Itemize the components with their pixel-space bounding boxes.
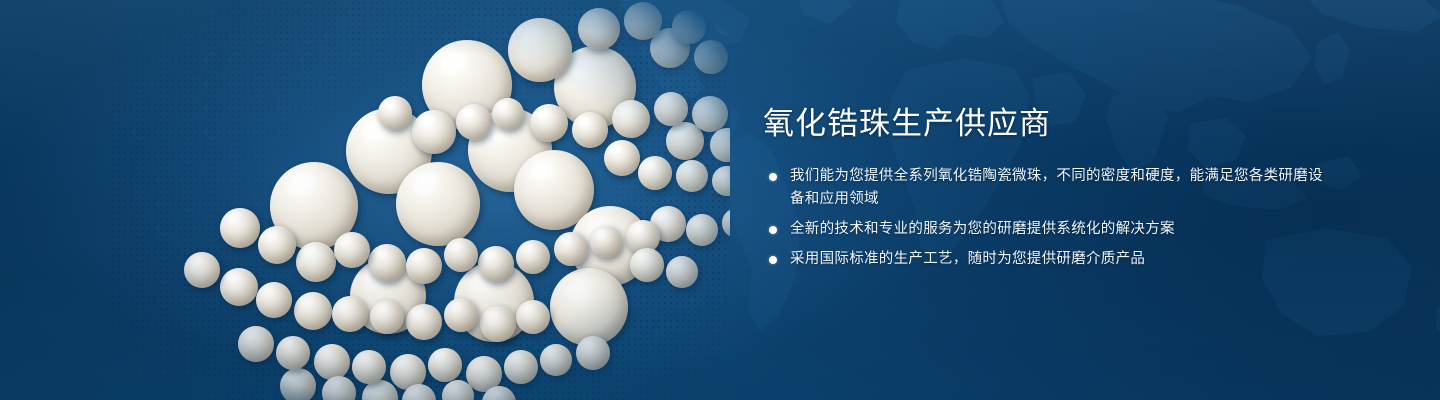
banner-bullet-item: 全新的技术和专业的服务为您的研磨提供系统化的解决方案: [763, 218, 1323, 241]
banner-bullet-text: 全新的技术和专业的服务为您的研磨提供系统化的解决方案: [790, 221, 1175, 237]
banner-copy: 氧化锆珠生产供应商 我们能为您提供全系列氧化锆陶瓷微珠，不同的密度和硬度，能满足…: [763, 108, 1323, 271]
banner-headline: 氧化锆珠生产供应商: [763, 108, 1323, 141]
bullet-dot-icon: [769, 173, 777, 181]
banner-bullet-item: 我们能为您提供全系列氧化锆陶瓷微珠，不同的密度和硬度，能满足您各类研磨设备和应用…: [763, 165, 1323, 211]
banner-bullet-text: 我们能为您提供全系列氧化锆陶瓷微珠，不同的密度和硬度，能满足您各类研磨设备和应用…: [790, 168, 1323, 207]
bullet-dot-icon: [769, 226, 777, 234]
banner-bullet-text: 采用国际标准的生产工艺，随时为您提供研磨介质产品: [790, 251, 1145, 267]
bullet-dot-icon: [769, 256, 777, 264]
hero-banner: 氧化锆珠生产供应商 我们能为您提供全系列氧化锆陶瓷微珠，不同的密度和硬度，能满足…: [0, 0, 1440, 400]
banner-bullet-item: 采用国际标准的生产工艺，随时为您提供研磨介质产品: [763, 248, 1323, 271]
banner-bullet-list: 我们能为您提供全系列氧化锆陶瓷微珠，不同的密度和硬度，能满足您各类研磨设备和应用…: [763, 165, 1323, 271]
